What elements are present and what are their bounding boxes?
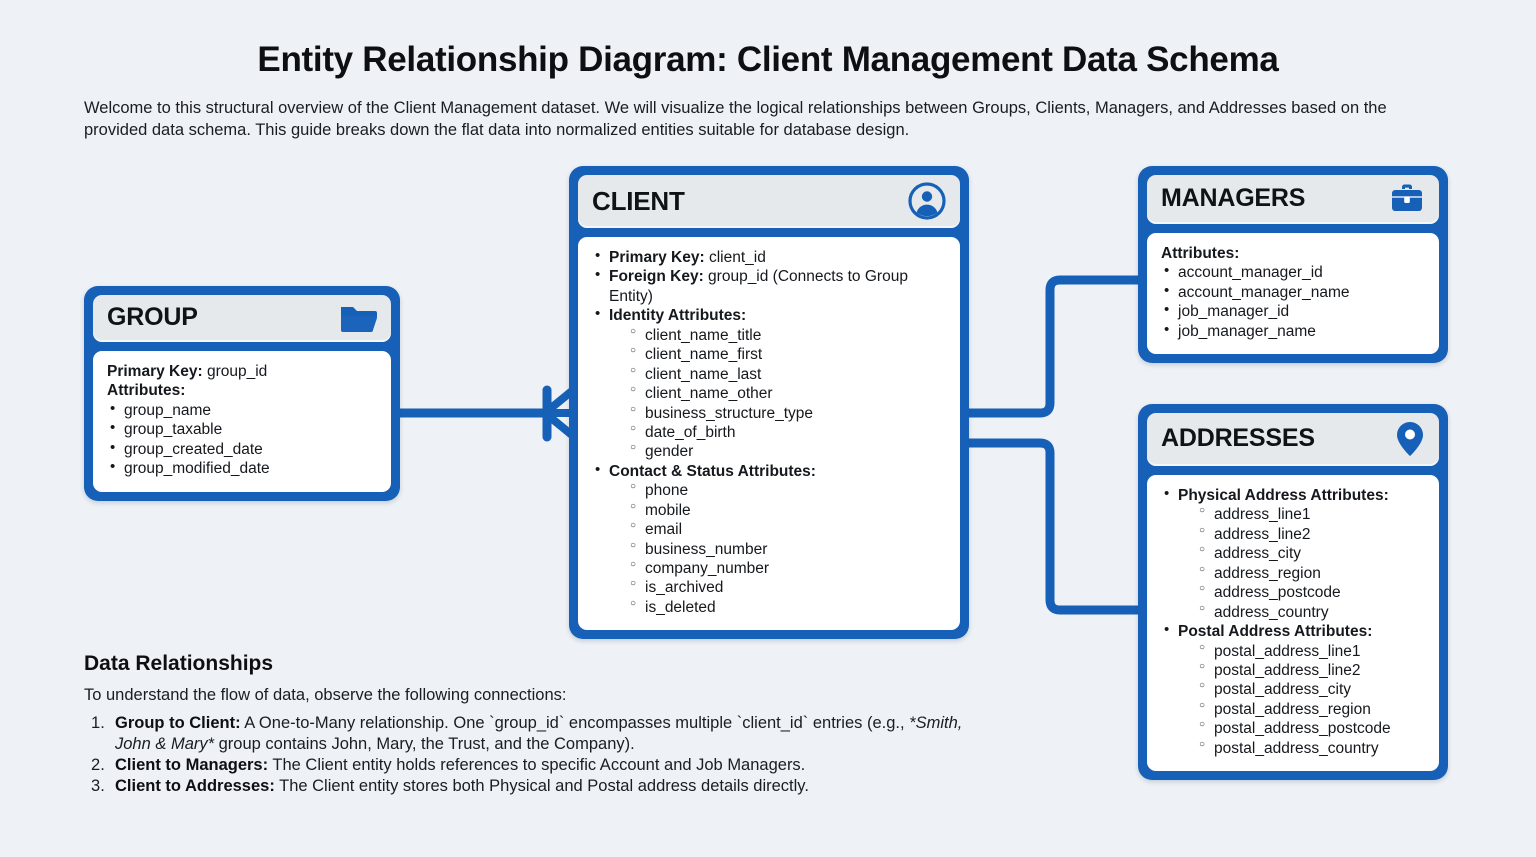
relationship-emphasis: *Smith, John & Mary* <box>115 714 962 753</box>
attribute-item: postal_address_postcode <box>1198 719 1425 738</box>
entity-client-header: CLIENT <box>578 175 960 228</box>
data-relationships-list: Group to Client: A One-to-Many relations… <box>84 713 984 797</box>
addresses-postal-group: Postal Address Attributes: postal_addres… <box>1161 622 1425 758</box>
connector-client-to-addresses <box>969 443 1138 610</box>
addresses-attribute-list: Physical Address Attributes: address_lin… <box>1161 486 1425 758</box>
client-primary-key-value: client_id <box>709 249 766 266</box>
entity-addresses-header: ADDRESSES <box>1147 413 1439 466</box>
attribute-item: job_manager_id <box>1161 302 1425 321</box>
relationship-item: Client to Managers: The Client entity ho… <box>84 755 984 776</box>
relationship-item: Client to Addresses: The Client entity s… <box>84 776 984 797</box>
addresses-physical-group: Physical Address Attributes: address_lin… <box>1161 486 1425 622</box>
attribute-item: business_structure_type <box>629 404 946 423</box>
attribute-item: group_taxable <box>107 420 377 439</box>
client-foreign-key-label: Foreign Key: <box>609 268 704 285</box>
attribute-item: postal_address_city <box>1198 680 1425 699</box>
attribute-item: postal_address_country <box>1198 739 1425 758</box>
page-intro-paragraph: Welcome to this structural overview of t… <box>84 98 1414 142</box>
attribute-item: client_name_last <box>629 365 946 384</box>
attribute-item: job_manager_name <box>1161 322 1425 341</box>
client-foreign-key-row: Foreign Key: group_id (Connects to Group… <box>592 267 946 306</box>
client-contact-list: phonemobileemailbusiness_numbercompany_n… <box>629 481 946 617</box>
relationship-item: Group to Client: A One-to-Many relations… <box>84 713 984 755</box>
attribute-item: account_manager_name <box>1161 283 1425 302</box>
group-primary-key-row: Primary Key: group_id <box>107 362 377 381</box>
attribute-item: address_region <box>1198 564 1425 583</box>
entity-client-title: CLIENT <box>592 187 685 216</box>
client-contact-label: Contact & Status Attributes: <box>609 463 816 480</box>
connector-client-to-managers <box>969 280 1138 413</box>
addresses-postal-label: Postal Address Attributes: <box>1178 623 1372 640</box>
attribute-item: client_name_first <box>629 345 946 364</box>
entity-addresses[interactable]: ADDRESSES Physical Address Attributes: a… <box>1138 404 1448 780</box>
relationship-label: Group to Client: <box>115 714 241 732</box>
attribute-item: address_city <box>1198 544 1425 563</box>
client-contact-group: Contact & Status Attributes: phonemobile… <box>592 462 946 618</box>
attribute-item: address_postcode <box>1198 583 1425 602</box>
group-attributes-label: Attributes: <box>107 381 377 400</box>
client-identity-group: Identity Attributes: client_name_titlecl… <box>592 306 946 462</box>
attribute-item: address_line1 <box>1198 505 1425 524</box>
attribute-item: group_modified_date <box>107 459 377 478</box>
entity-client[interactable]: CLIENT Primary Key: client_id Foreign Ke… <box>569 166 969 639</box>
attribute-item: group_created_date <box>107 440 377 459</box>
connector-group-to-client <box>400 386 580 440</box>
attribute-item: postal_address_region <box>1198 700 1425 719</box>
client-identity-list: client_name_titleclient_name_firstclient… <box>629 326 946 462</box>
attribute-item: account_manager_id <box>1161 263 1425 282</box>
entity-managers-header: MANAGERS <box>1147 175 1439 224</box>
client-attribute-list: Primary Key: client_id Foreign Key: grou… <box>592 248 946 617</box>
attribute-item: business_number <box>629 540 946 559</box>
data-relationships-title: Data Relationships <box>84 652 984 676</box>
entity-group-title: GROUP <box>107 304 198 332</box>
client-primary-key-label: Primary Key: <box>609 249 705 266</box>
managers-attributes-label: Attributes: <box>1161 244 1425 263</box>
entity-client-body: Primary Key: client_id Foreign Key: grou… <box>578 237 960 630</box>
attribute-item: address_country <box>1198 603 1425 622</box>
map-pin-icon <box>1395 420 1425 458</box>
entity-managers[interactable]: MANAGERS Attributes: account_manager_ida… <box>1138 166 1448 363</box>
attribute-item: email <box>629 520 946 539</box>
entity-addresses-body: Physical Address Attributes: address_lin… <box>1147 475 1439 771</box>
attribute-item: client_name_other <box>629 384 946 403</box>
attribute-item: client_name_title <box>629 326 946 345</box>
attribute-item: date_of_birth <box>629 423 946 442</box>
data-relationships-lead: To understand the flow of data, observe … <box>84 686 984 705</box>
attribute-item: postal_address_line2 <box>1198 661 1425 680</box>
addresses-physical-label: Physical Address Attributes: <box>1178 487 1389 504</box>
er-diagram-canvas: Entity Relationship Diagram: Client Mana… <box>0 0 1536 857</box>
attribute-item: address_line2 <box>1198 525 1425 544</box>
attribute-item: phone <box>629 481 946 500</box>
briefcase-icon <box>1389 182 1425 216</box>
attribute-item: postal_address_line1 <box>1198 642 1425 661</box>
group-primary-key-value: group_id <box>207 363 267 380</box>
entity-managers-body: Attributes: account_manager_idaccount_ma… <box>1147 233 1439 354</box>
relationship-label: Client to Managers: <box>115 756 268 774</box>
user-circle-icon <box>908 182 946 220</box>
managers-attribute-list: account_manager_idaccount_manager_namejo… <box>1161 263 1425 341</box>
entity-group-header: GROUP <box>93 295 391 342</box>
attribute-item: gender <box>629 442 946 461</box>
attribute-item: group_name <box>107 401 377 420</box>
client-primary-key-row: Primary Key: client_id <box>592 248 946 267</box>
attribute-item: mobile <box>629 501 946 520</box>
group-primary-key-label: Primary Key: <box>107 363 203 380</box>
entity-group-body: Primary Key: group_id Attributes: group_… <box>93 351 391 492</box>
group-attribute-list: group_namegroup_taxablegroup_created_dat… <box>107 401 377 479</box>
relationship-label: Client to Addresses: <box>115 777 275 795</box>
entity-group[interactable]: GROUP Primary Key: group_id Attributes: … <box>84 286 400 501</box>
page-title: Entity Relationship Diagram: Client Mana… <box>0 40 1536 80</box>
client-identity-label: Identity Attributes: <box>609 307 746 324</box>
addresses-physical-list: address_line1address_line2address_cityad… <box>1198 505 1425 622</box>
attribute-item: company_number <box>629 559 946 578</box>
attribute-item: is_archived <box>629 578 946 597</box>
data-relationships-section: Data Relationships To understand the flo… <box>84 652 984 797</box>
attribute-item: is_deleted <box>629 598 946 617</box>
addresses-postal-list: postal_address_line1postal_address_line2… <box>1198 642 1425 759</box>
entity-addresses-title: ADDRESSES <box>1161 425 1315 453</box>
folder-icon <box>339 302 377 334</box>
entity-managers-title: MANAGERS <box>1161 185 1305 213</box>
